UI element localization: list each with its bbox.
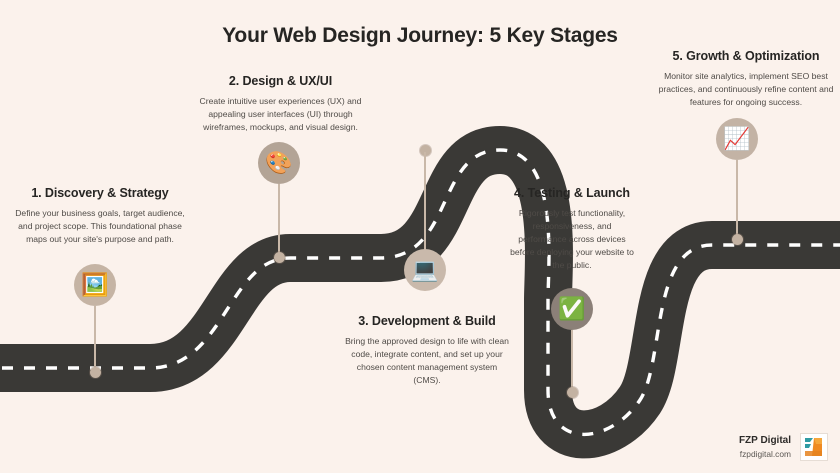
marker-stem-4 bbox=[571, 330, 573, 392]
stage-icon-badge-5[interactable]: 📈 bbox=[716, 118, 758, 160]
marker-dot-4 bbox=[567, 387, 578, 398]
check-mark-button-icon: ✅ bbox=[558, 298, 585, 320]
laptop-computer-icon: 💻 bbox=[411, 259, 438, 281]
marker-stem-5 bbox=[736, 160, 738, 238]
stage-block-1: 1. Discovery & Strategy Define your busi… bbox=[10, 185, 190, 246]
footer-branding: FZP Digital fzpdigital.com bbox=[739, 433, 828, 461]
marker-dot-5 bbox=[732, 234, 743, 245]
stage-title-4: 4. Testing & Launch bbox=[510, 185, 634, 202]
stage-block-5: 5. Growth & Optimization Monitor site an… bbox=[655, 48, 837, 109]
stage-icon-badge-2[interactable]: 🎨 bbox=[258, 142, 300, 184]
artist-palette-icon: 🎨 bbox=[265, 152, 292, 174]
stage-desc-3: Bring the approved design to life with c… bbox=[343, 335, 511, 387]
stage-block-3: 3. Development & Build Bring the approve… bbox=[343, 313, 511, 387]
stage-desc-5: Monitor site analytics, implement SEO be… bbox=[655, 70, 837, 109]
logo-mark bbox=[801, 434, 827, 460]
stage-icon-badge-4[interactable]: ✅ bbox=[551, 288, 593, 330]
fzp-digital-logo-icon bbox=[800, 433, 828, 461]
stage-title-5: 5. Growth & Optimization bbox=[655, 48, 837, 65]
brand-text-group: FZP Digital fzpdigital.com bbox=[739, 433, 791, 461]
stage-icon-badge-3[interactable]: 💻 bbox=[404, 249, 446, 291]
brand-url[interactable]: fzpdigital.com bbox=[739, 448, 791, 461]
stage-marker-3[interactable]: 💻 bbox=[392, 145, 458, 305]
stage-title-3: 3. Development & Build bbox=[343, 313, 511, 330]
stage-desc-1: Define your business goals, target audie… bbox=[10, 207, 190, 246]
stage-marker-2[interactable]: 🎨 bbox=[246, 142, 312, 264]
page-title: Your Web Design Journey: 5 Key Stages bbox=[0, 24, 840, 48]
marker-stem-1 bbox=[94, 306, 96, 372]
marker-stem-2 bbox=[278, 184, 280, 256]
stage-marker-5[interactable]: 📈 bbox=[704, 118, 770, 248]
stage-title-2: 2. Design & UX/UI bbox=[188, 73, 373, 90]
stage-desc-2: Create intuitive user experiences (UX) a… bbox=[188, 95, 373, 134]
stage-marker-1[interactable]: 🖼️ bbox=[62, 264, 128, 378]
marker-stem-3 bbox=[424, 152, 426, 250]
stage-title-1: 1. Discovery & Strategy bbox=[10, 185, 190, 202]
marker-dot-1 bbox=[90, 367, 101, 378]
brand-name: FZP Digital bbox=[739, 433, 791, 448]
framed-picture-icon: 🖼️ bbox=[81, 274, 108, 296]
infographic-canvas: Your Web Design Journey: 5 Key Stages 1.… bbox=[0, 0, 840, 473]
stage-block-2: 2. Design & UX/UI Create intuitive user … bbox=[188, 73, 373, 134]
stage-marker-4[interactable]: ✅ bbox=[539, 288, 605, 408]
marker-dot-2 bbox=[274, 252, 285, 263]
stage-desc-4: Rigorously test functionality, responsiv… bbox=[510, 207, 634, 272]
chart-increasing-icon: 📈 bbox=[723, 128, 750, 150]
stage-icon-badge-1[interactable]: 🖼️ bbox=[74, 264, 116, 306]
stage-block-4: 4. Testing & Launch Rigorously test func… bbox=[510, 185, 634, 272]
